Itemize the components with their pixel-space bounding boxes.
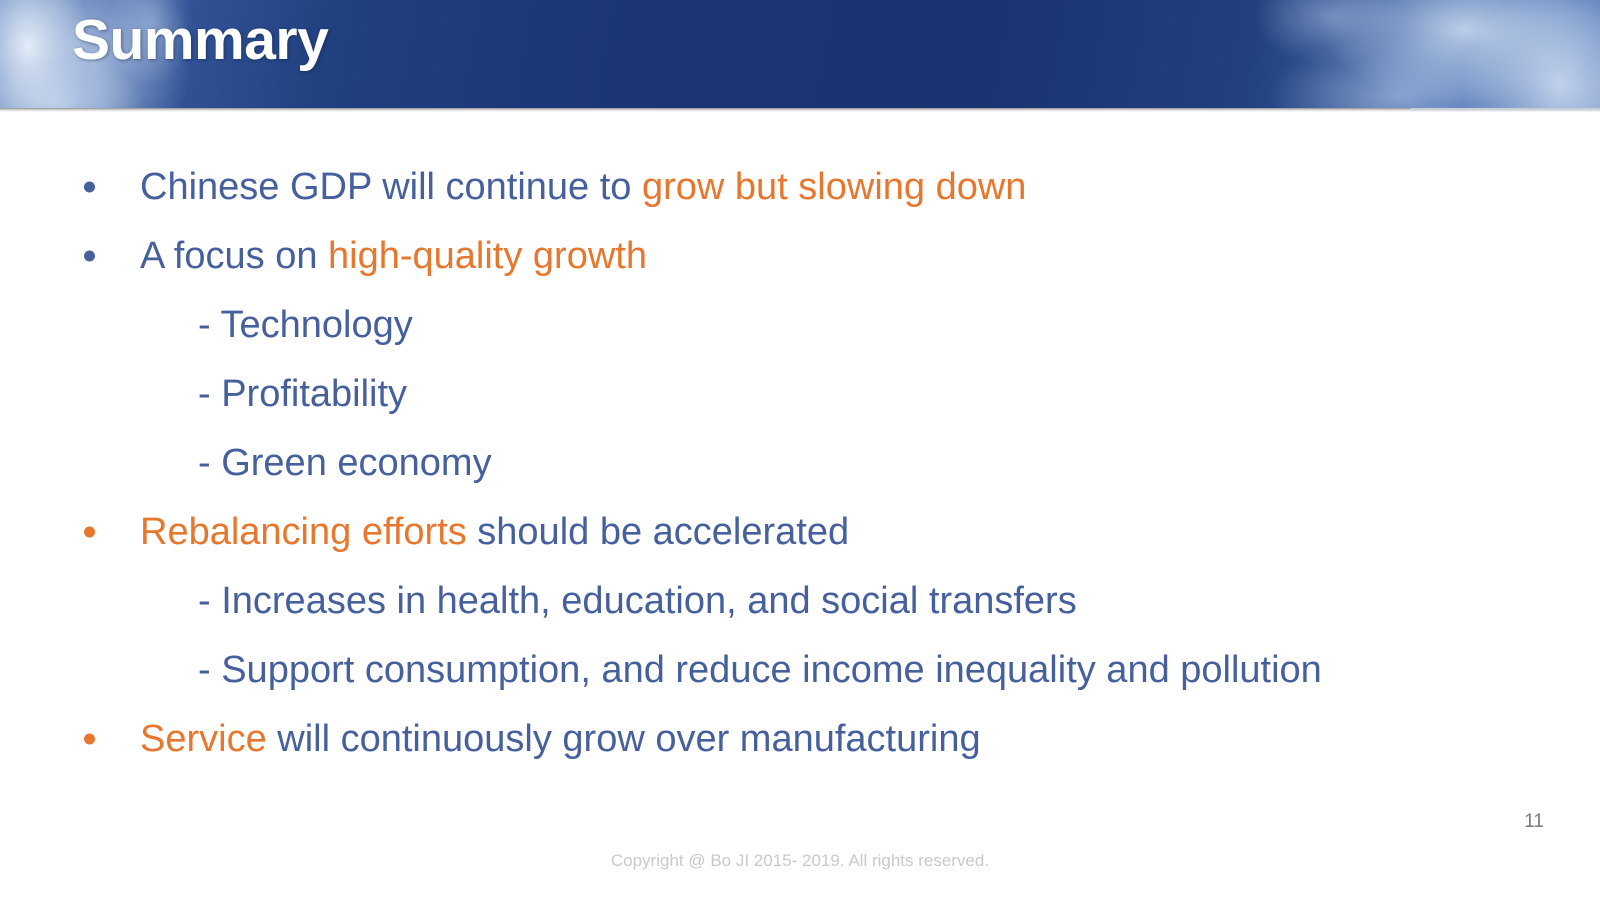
bullet-list: Chinese GDP will continue to grow but sl… [0, 152, 1600, 773]
sub-bullet-item: - Increases in health, education, and so… [0, 566, 1600, 635]
sub-bullet-text: - Support consumption, and reduce income… [198, 651, 1322, 689]
bullet-dot-icon [84, 250, 95, 261]
bullet-item: Rebalancing efforts should be accelerate… [0, 497, 1600, 566]
sub-bullet-item: - Support consumption, and reduce income… [0, 635, 1600, 704]
highlight-text: grow but slowing down [642, 166, 1026, 208]
sub-bullet-item: - Profitability [0, 359, 1600, 428]
bullet-dot-icon [84, 181, 95, 192]
highlight-text: Service [140, 718, 267, 760]
plain-text: - Technology [198, 304, 413, 346]
bullet-dot-icon [84, 733, 95, 744]
sub-bullet-text: - Increases in health, education, and so… [198, 582, 1077, 620]
copyright-notice: Copyright @ Bo JI 2015- 2019. All rights… [0, 852, 1600, 869]
bullet-text: A focus on high-quality growth [140, 237, 647, 275]
sub-bullet-item: - Technology [0, 290, 1600, 359]
bullet-text: Rebalancing efforts should be accelerate… [140, 513, 849, 551]
sub-bullet-text: - Profitability [198, 375, 407, 413]
sub-bullet-item: - Green economy [0, 428, 1600, 497]
plain-text: - Green economy [198, 442, 492, 484]
page-title: Summary [72, 12, 328, 69]
banner-divider-shadow-right [1410, 108, 1600, 112]
bullet-text: Chinese GDP will continue to grow but sl… [140, 168, 1026, 206]
bullet-dot-icon [84, 526, 95, 537]
plain-text: will continuously grow over manufacturin… [267, 718, 981, 760]
bullet-item: Service will continuously grow over manu… [0, 704, 1600, 773]
highlight-text: high-quality growth [328, 235, 647, 277]
plain-text: - Increases in health, education, and so… [198, 580, 1077, 622]
plain-text: Chinese GDP will continue to [140, 166, 642, 208]
bullet-item: Chinese GDP will continue to grow but sl… [0, 152, 1600, 221]
presentation-slide: Summary Chinese GDP will continue to gro… [0, 0, 1600, 900]
banner-divider-shadow [0, 108, 1600, 112]
plain-text: should be accelerated [467, 511, 849, 553]
sub-bullet-text: - Green economy [198, 444, 492, 482]
plain-text: - Support consumption, and reduce income… [198, 649, 1322, 691]
plain-text: A focus on [140, 235, 328, 277]
highlight-text: Rebalancing efforts [140, 511, 467, 553]
bullet-text: Service will continuously grow over manu… [140, 720, 981, 758]
sub-bullet-text: - Technology [198, 306, 413, 344]
plain-text: - Profitability [198, 373, 407, 415]
page-number: 11 [1524, 812, 1544, 831]
slide-header-banner: Summary [0, 0, 1600, 108]
bullet-item: A focus on high-quality growth [0, 221, 1600, 290]
